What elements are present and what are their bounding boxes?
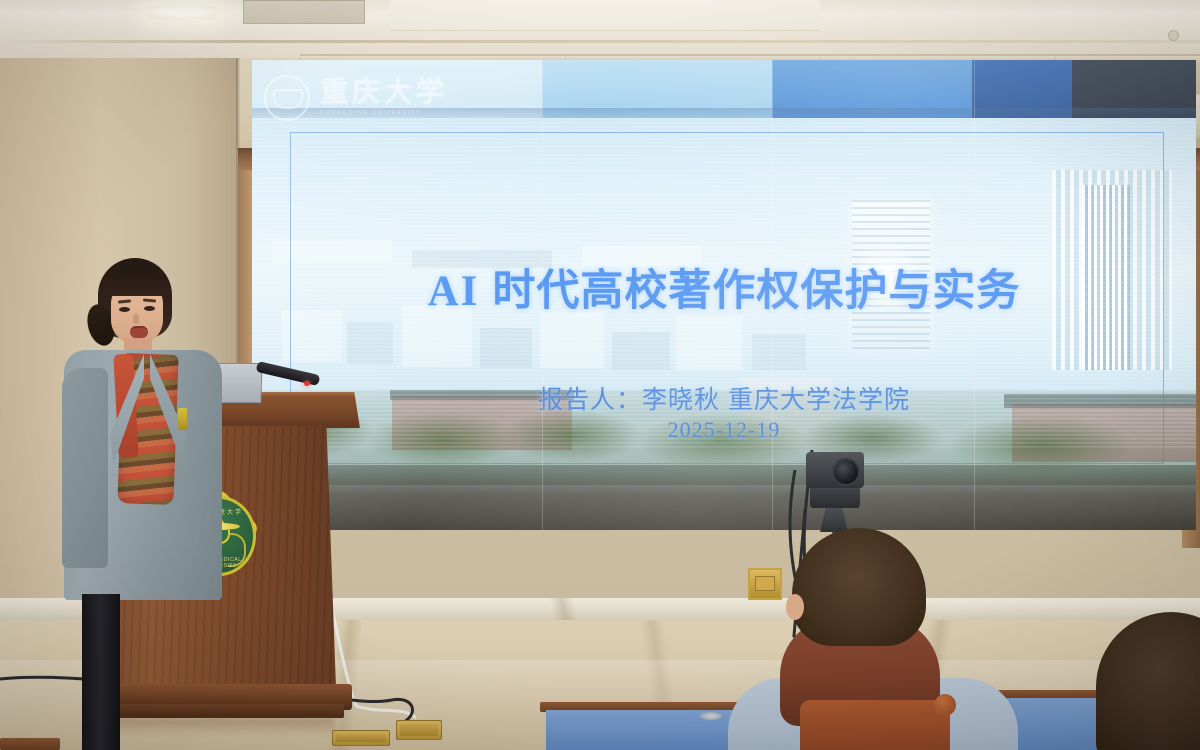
lecture-hall-photo: 重庆大学 CHONGQING UNIVERSITY AI 时代高校著作权保护与实… [0, 0, 1200, 750]
wooden-chair-back [800, 700, 950, 750]
projection-screen: 重庆大学 CHONGQING UNIVERSITY AI 时代高校著作权保护与实… [252, 60, 1196, 530]
table-grommet-icon [700, 712, 722, 720]
presenter [58, 258, 228, 728]
ceiling-seam [0, 40, 1200, 43]
brass-floor-outlet [332, 730, 390, 746]
brass-floor-outlet [396, 720, 442, 740]
presenter-hairline [103, 270, 169, 296]
ceiling-vent [243, 0, 365, 24]
slide-title: AI 时代高校著作权保护与实务 [252, 256, 1196, 318]
presenter-arm [62, 368, 108, 568]
presenter-eye [119, 307, 130, 312]
ceiling-sprinkler-icon [1168, 30, 1179, 41]
audience-hair [792, 528, 926, 646]
slide-university-logo: 重庆大学 CHONGQING UNIVERSITY [264, 74, 504, 122]
audience-ear [786, 594, 804, 620]
slide-presenter-line: 报告人：李晓秋 重庆大学法学院 [252, 380, 1196, 416]
slide-date: 2025-12-19 [252, 417, 1196, 443]
slide-bottom-shadow [252, 465, 1196, 530]
ceiling-seam-secondary [300, 54, 1200, 56]
university-crest-icon [264, 75, 310, 121]
presenter-mouth [130, 326, 148, 338]
slide-logo-en: CHONGQING UNIVERSITY [320, 111, 448, 117]
slide-title-latin: AI [428, 268, 480, 315]
slide-logo-cn: 重庆大学 [320, 79, 448, 107]
audience-member-right [1096, 612, 1200, 750]
slide-title-cn: 时代高校著作权保护与实务 [479, 267, 1020, 315]
presenter-badge [178, 408, 187, 430]
chair-knob [934, 694, 956, 716]
microphone-led-icon [304, 381, 310, 386]
audience-hair [1096, 612, 1200, 750]
table-edge [0, 738, 60, 750]
ceiling-recess [390, 0, 820, 31]
camera-lens-icon [832, 458, 860, 486]
presenter-eye [144, 306, 155, 311]
presenter-nose [133, 314, 139, 324]
presenter-leg [82, 594, 120, 750]
ceiling-light-icon [146, 6, 218, 19]
camera-mount [810, 486, 860, 508]
